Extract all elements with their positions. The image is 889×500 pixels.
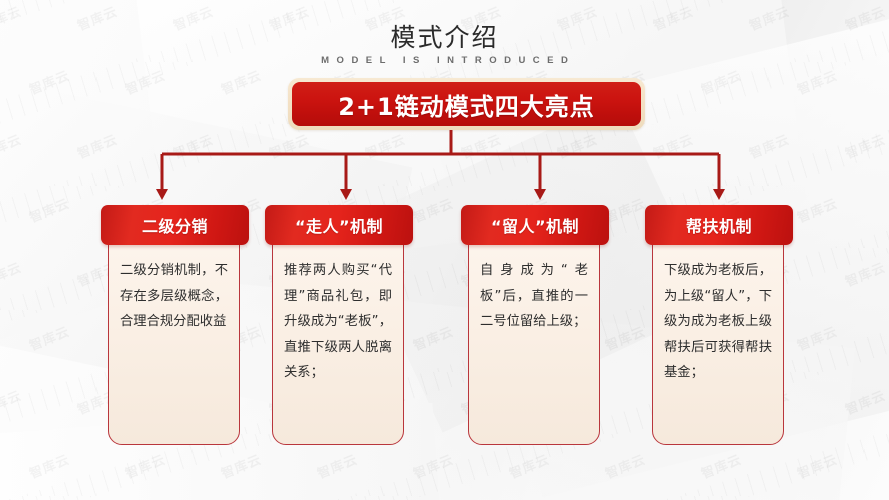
card-heading-label: 帮扶机制 bbox=[686, 213, 752, 237]
card-header: “走人”机制 bbox=[265, 205, 413, 245]
connector-arrowhead-2 bbox=[340, 189, 352, 200]
card-body-text: 下级成为老板后，为上级“留人”，下级为成为老板上级帮扶后可获得帮扶基金； bbox=[664, 258, 772, 386]
card-heading-label: 二级分销 bbox=[142, 213, 208, 237]
card-heading-label: “走人”机制 bbox=[295, 213, 383, 237]
card-leave-mechanism[interactable]: “走人”机制 推荐两人购买“代理”商品礼包，即升级成为“老板”，直推下级两人脱离… bbox=[272, 205, 404, 445]
card-header: “留人”机制 bbox=[461, 205, 609, 245]
card-header: 二级分销 bbox=[101, 205, 249, 245]
card-header: 帮扶机制 bbox=[645, 205, 793, 245]
card-heading-label: “留人”机制 bbox=[491, 213, 579, 237]
connector-arrowhead-1 bbox=[156, 189, 168, 200]
card-body-text: 自身成为“老板”后，直推的一二号位留给上级； bbox=[480, 258, 588, 335]
card-body-text: 二级分销机制，不存在多层级概念，合理合规分配收益 bbox=[120, 258, 228, 335]
slide-canvas: 智库云智库云智库云智库云智库云智库云智库云智库云智库云智库云智库云智库云智库云智… bbox=[0, 0, 889, 500]
card-retain-mechanism[interactable]: “留人”机制 自身成为“老板”后，直推的一二号位留给上级； bbox=[468, 205, 600, 445]
connector-arrowhead-4 bbox=[713, 189, 725, 200]
card-body-text: 推荐两人购买“代理”商品礼包，即升级成为“老板”，直推下级两人脱离关系； bbox=[284, 258, 392, 386]
card-support-mechanism[interactable]: 帮扶机制 下级成为老板后，为上级“留人”，下级为成为老板上级帮扶后可获得帮扶基金… bbox=[652, 205, 784, 445]
card-secondary-distribution[interactable]: 二级分销 二级分销机制，不存在多层级概念，合理合规分配收益 bbox=[108, 205, 240, 445]
connector-arrowhead-3 bbox=[534, 189, 546, 200]
